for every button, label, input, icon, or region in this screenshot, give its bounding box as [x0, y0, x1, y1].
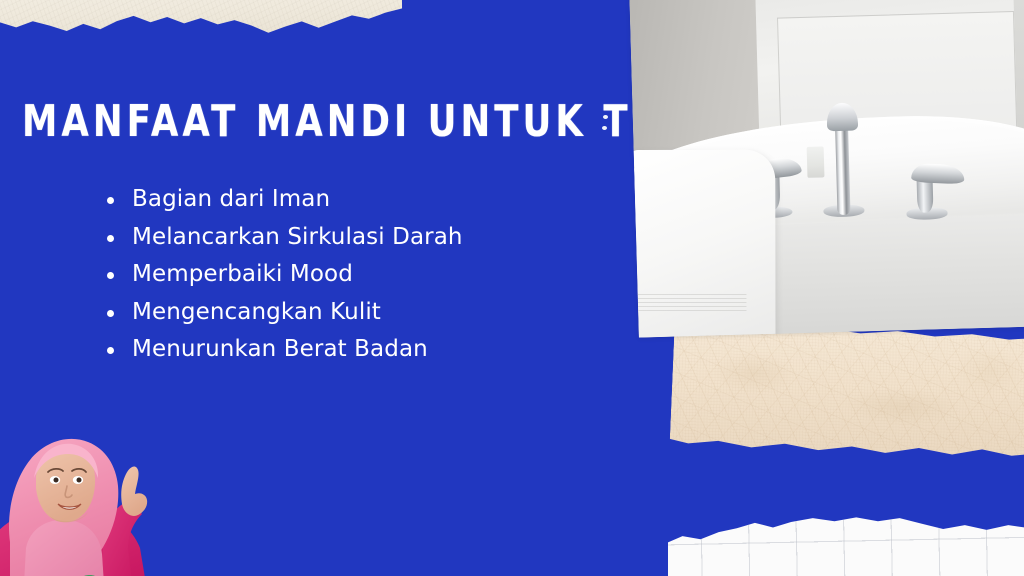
slide-canvas: o cq bo ' s ca a lo ll bc di ' s uu r bi…: [0, 0, 1024, 576]
presenter-illustration: [0, 392, 202, 576]
speck-artifact: [603, 115, 608, 119]
photo-bottle: [807, 147, 824, 178]
photo-faucet-spout: [835, 118, 851, 215]
photo-right-handle-stem: [916, 178, 933, 213]
list-item: Mengencangkan Kulit: [101, 294, 463, 332]
bathtub-photo: [629, 0, 1024, 338]
newspaper-text-block: o cq bo ' s ca a lo ll bc di ' s uu r bi…: [0, 0, 13, 45]
list-item-label: Melancarkan Sirkulasi Darah: [132, 224, 463, 250]
presenter-hand: [121, 467, 147, 516]
kraft-crinkle-texture: [670, 319, 1024, 460]
list-item-label: Memperbaiki Mood: [132, 261, 353, 287]
list-item-label: Menurunkan Berat Badan: [132, 336, 428, 362]
list-item: Memperbaiki Mood: [101, 256, 463, 294]
presenter-pupil-left: [54, 478, 59, 483]
list-item-label: Mengencangkan Kulit: [132, 299, 381, 325]
presenter-pupil-right: [77, 478, 82, 483]
list-item-label: Bagian dari Iman: [132, 186, 330, 212]
torn-newspaper-strip: o cq bo ' s ca a lo ll bc di ' s uu r bi…: [0, 0, 403, 55]
benefits-list: Bagian dari Iman Melancarkan Sirkulasi D…: [101, 181, 463, 369]
speck-artifact: [602, 126, 607, 130]
list-item: Melancarkan Sirkulasi Darah: [101, 219, 463, 257]
presenter-cutout: [0, 392, 202, 576]
bathtub-photo-content: [629, 0, 1024, 338]
photo-towel: [629, 150, 775, 338]
torn-kraft-paper-strip: [670, 319, 1024, 460]
list-item: Menurunkan Berat Badan: [101, 331, 463, 369]
list-item: Bagian dari Iman: [101, 181, 463, 219]
torn-grid-paper-strip: [668, 508, 1024, 576]
grid-paper-lines: [653, 501, 1024, 576]
paper-grain-texture: [0, 0, 403, 55]
